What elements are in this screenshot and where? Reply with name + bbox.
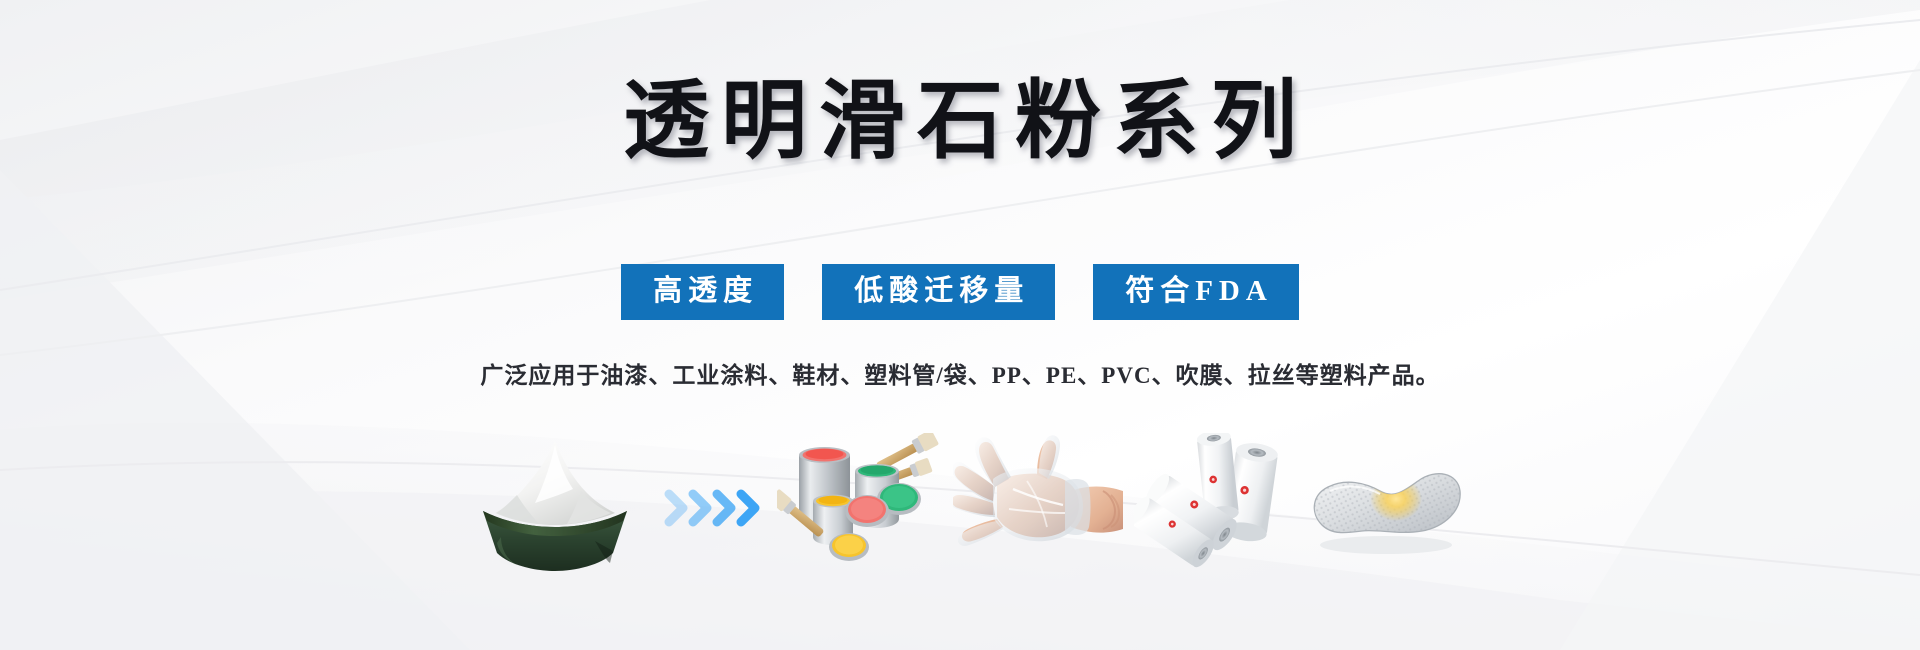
feature-badge-group: 高透度 低酸迁移量 符合FDA [621,264,1299,320]
feature-badge-fda-compliant[interactable]: 符合FDA [1093,264,1299,320]
talc-powder-bowl-image [455,433,655,583]
banner-content: 透明滑石粉系列 高透度 低酸迁移量 符合FDA 广泛应用于油漆、工业涂料、鞋材、… [0,0,1920,650]
page-title: 透明滑石粉系列 [611,78,1309,164]
feature-badge-low-acid-migration[interactable]: 低酸迁移量 [822,264,1055,320]
application-description: 广泛应用于油漆、工业涂料、鞋材、塑料管/袋、PP、PE、PVC、吹膜、拉丝等塑料… [480,356,1439,390]
paint-cans-image [777,433,947,583]
shoe-sole-image [1300,433,1465,583]
product-banner: 透明滑石粉系列 高透度 低酸迁移量 符合FDA 广泛应用于油漆、工业涂料、鞋材、… [0,0,1920,650]
product-application-strip [360,433,1560,583]
plastic-glove-hand-image [953,433,1128,583]
arrow-chevrons-icon [661,433,771,583]
plastic-film-rolls-image [1134,433,1294,583]
feature-badge-high-transparency[interactable]: 高透度 [621,264,784,320]
